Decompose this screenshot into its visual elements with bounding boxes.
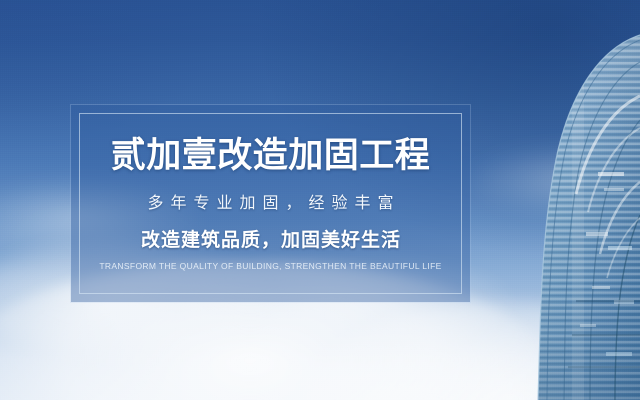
company-title: 贰加壹改造加固工程 — [111, 138, 431, 173]
slogan-english: TRANSFORM THE QUALITY OF BUILDING, STREN… — [99, 262, 441, 271]
subtitle-chinese: 多年专业加固，经验丰富 — [140, 196, 400, 212]
hero-text-panel: 贰加壹改造加固工程 多年专业加固，经验丰富 改造建筑品质，加固美好生活 TRAN… — [71, 105, 470, 302]
hero-banner: 贰加壹改造加固工程 多年专业加固，经验丰富 改造建筑品质，加固美好生活 TRAN… — [0, 0, 640, 400]
panel-content: 贰加壹改造加固工程 多年专业加固，经验丰富 改造建筑品质，加固美好生活 TRAN… — [71, 105, 470, 302]
slogan-chinese: 改造建筑品质，加固美好生活 — [140, 231, 401, 250]
